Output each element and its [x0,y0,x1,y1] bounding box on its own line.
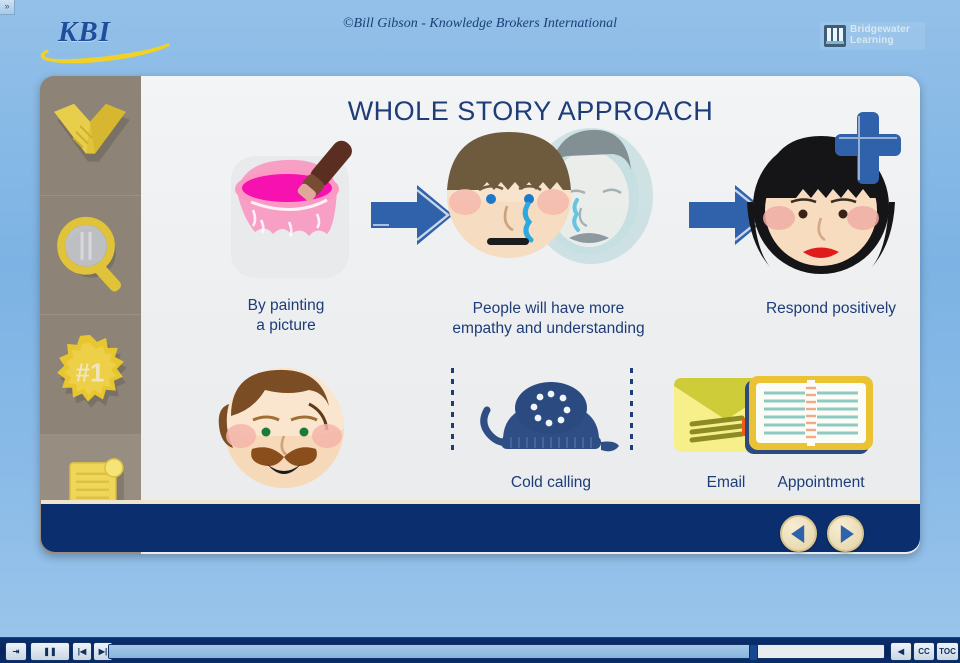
slide-footer [41,500,920,552]
toc-icon: TOC [939,647,956,656]
slide-frame: #1 WHOLE STORY APP [40,76,920,554]
progress-track[interactable] [108,644,885,659]
progress-fill [109,645,752,658]
smiling-face-plus-icon [741,106,920,294]
crying-faces-icon [431,104,666,294]
pause-icon: ❚❚ [43,647,56,656]
skip-previous-icon: |◀ [78,647,86,656]
bridgewater-mark-icon [824,25,846,47]
skip-next-icon: ▶| [99,647,107,656]
rotary-phone-icon [471,368,631,468]
divider-dashed-1 [451,368,454,450]
paint-bucket-icon [201,136,371,291]
table-of-contents-button[interactable]: TOC [936,642,959,661]
content-item-mustache-face [209,364,359,497]
content-item-paint: By painting a picture [201,136,371,336]
pause-button[interactable]: ❚❚ [30,642,70,661]
exit-icon: ⇥ [13,647,20,656]
content-item-empathy: People will have more empathy and unders… [431,104,666,339]
slide-stage: WHOLE STORY APPROACH By pai [141,76,920,554]
chapter-sidebar: #1 [40,76,141,554]
sidebar-item-number-one[interactable]: #1 [40,315,141,435]
closed-captions-button[interactable]: CC [913,642,935,661]
copyright-line: ©Bill Gibson - Knowledge Brokers Interna… [0,16,960,32]
chevron-left-icon [791,525,804,543]
chevron-right-icon [840,525,853,543]
bridgewater-logo-text: Bridgewater Learning [850,24,910,46]
cc-icon: CC [918,647,930,656]
volume-button[interactable]: ◀ [890,642,912,661]
content-item-caption: People will have more empathy and unders… [431,299,666,339]
bridgewater-logo-line2: Learning [850,35,910,46]
bridgewater-logo-line1: Bridgewater [850,24,910,35]
content-item-caption: Respond positively [741,299,920,319]
progress-handle[interactable] [749,644,758,661]
content-item-caption: Appointment [731,473,911,493]
sidebar-item-magnifier[interactable] [40,196,141,316]
magnifier-icon [40,196,141,316]
player-control-bar: ⇥ ❚❚ |◀ ▶| ◀ CC TOC [0,637,960,663]
svg-text:#1: #1 [76,360,105,388]
content-item-cold-calling: Cold calling [471,368,631,493]
page-header: KBI ©Bill Gibson - Knowledge Brokers Int… [0,0,960,62]
previous-slide-button[interactable] [780,515,817,552]
content-item-respond: Respond positively [741,106,920,319]
volume-icon: ◀ [898,647,904,656]
bridgewater-learning-logo: Bridgewater Learning [820,22,925,50]
content-item-caption: By painting a picture [201,296,371,336]
previous-button[interactable]: |◀ [72,642,92,661]
sidebar-item-handshake[interactable] [40,76,141,196]
open-book-icon [731,368,911,468]
divider-dashed-2 [630,368,633,450]
content-item-appointment: Appointment [731,368,911,493]
mustache-face-icon [209,364,359,492]
next-slide-button[interactable] [827,515,864,552]
exit-button[interactable]: ⇥ [5,642,27,661]
handshake-icon [40,76,141,196]
number-one-badge-icon: #1 [40,315,141,435]
content-item-caption: Cold calling [471,473,631,493]
